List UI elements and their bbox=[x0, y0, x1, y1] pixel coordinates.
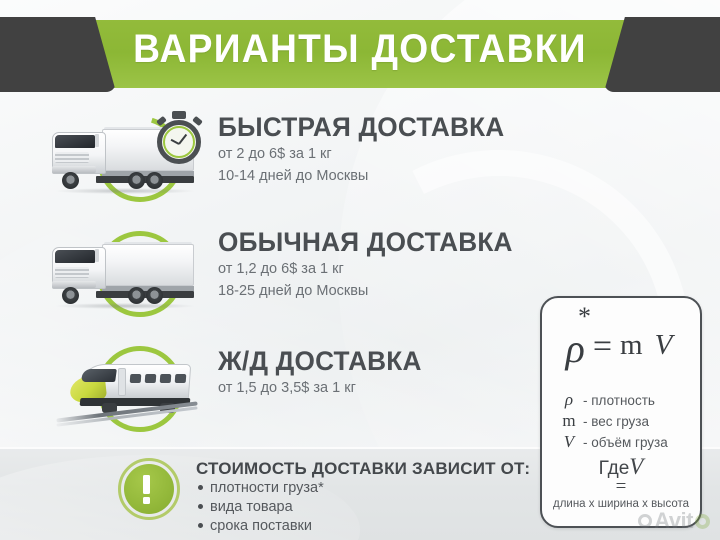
list-item: вида товара bbox=[196, 498, 526, 517]
delivery-option-regular: ОБЫЧНАЯ ДОСТАВКА от 1,2 до 6$ за 1 кг 18… bbox=[0, 219, 560, 329]
density-formula-card: * ρ = m V ρ - плотность m - вес груза V … bbox=[540, 296, 702, 528]
delivery-option-rail: Ж/Д ДОСТАВКА от 1,5 до 3,5$ за 1 кг bbox=[0, 334, 560, 444]
delivery-option-rail-text: Ж/Д ДОСТАВКА от 1,5 до 3,5$ за 1 кг bbox=[218, 346, 548, 398]
option-price: от 2 до 6$ за 1 кг bbox=[218, 144, 548, 164]
option-price: от 1,5 до 3,5$ за 1 кг bbox=[218, 378, 548, 398]
volume-symbol: V bbox=[629, 454, 643, 479]
equals-symbol: = bbox=[593, 330, 612, 364]
cost-factors-title: СТОИМОСТЬ ДОСТАВКИ ЗАВИСИТ ОТ: bbox=[196, 459, 526, 479]
option-title: ОБЫЧНАЯ ДОСТАВКА bbox=[218, 227, 538, 257]
volume-equals: = bbox=[542, 480, 700, 494]
list-item-label: срока поставки bbox=[210, 518, 312, 534]
option-duration: 18-25 дней до Москвы bbox=[218, 281, 548, 301]
list-item-label: вида товара bbox=[210, 499, 293, 515]
exclamation-icon bbox=[118, 458, 180, 520]
option-title: БЫСТРАЯ ДОСТАВКА bbox=[218, 112, 538, 142]
header-banner: ВАРИАНТЫ ДОСТАВКИ bbox=[0, 17, 720, 92]
page-title: ВАРИАНТЫ ДОСТАВКИ bbox=[25, 27, 695, 72]
option-price: от 1,2 до 6$ за 1 кг bbox=[218, 259, 548, 279]
volume-definition: ГдеV = длина х ширина х высота bbox=[542, 456, 700, 512]
truck-icon-container bbox=[42, 219, 207, 329]
stopwatch-icon bbox=[154, 110, 204, 164]
option-title: Ж/Д ДОСТАВКА bbox=[218, 346, 538, 376]
train-icon bbox=[56, 358, 198, 424]
bullet-icon bbox=[198, 485, 203, 490]
volume-formula-text: длина х ширина х высота bbox=[542, 496, 700, 512]
list-item-label: плотности груза* bbox=[210, 480, 324, 496]
rho-symbol: ρ bbox=[566, 329, 585, 369]
legend-symbol: m bbox=[558, 411, 580, 431]
legend-row: V - объём груза bbox=[558, 432, 698, 453]
legend-row: ρ - плотность bbox=[558, 390, 698, 411]
legend-row: m - вес груза bbox=[558, 411, 698, 432]
truck-with-stopwatch-icon bbox=[42, 104, 207, 214]
cost-factors-block: СТОИМОСТЬ ДОСТАВКИ ЗАВИСИТ ОТ: плотности… bbox=[196, 459, 526, 536]
fraction-denominator: V bbox=[651, 327, 677, 361]
legend-symbol: V bbox=[558, 432, 580, 452]
option-duration: 10-14 дней до Москвы bbox=[218, 166, 548, 186]
delivery-option-fast-text: БЫСТРАЯ ДОСТАВКА от 2 до 6$ за 1 кг 10-1… bbox=[218, 112, 548, 186]
legend-text: - вес груза bbox=[583, 412, 649, 432]
delivery-option-fast: БЫСТРАЯ ДОСТАВКА от 2 до 6$ за 1 кг 10-1… bbox=[0, 104, 560, 214]
legend-text: - объём груза bbox=[583, 433, 668, 453]
delivery-options-infographic: ВАРИАНТЫ ДОСТАВКИ bbox=[0, 0, 720, 540]
train-icon-container bbox=[42, 334, 207, 444]
bullet-icon bbox=[198, 523, 203, 528]
legend-text: - плотность bbox=[583, 391, 655, 411]
legend-symbol: ρ bbox=[558, 390, 580, 410]
formula-legend: ρ - плотность m - вес груза V - объём гр… bbox=[558, 390, 698, 453]
density-formula: ρ = m V bbox=[542, 306, 700, 384]
truck-icon bbox=[50, 241, 200, 311]
bullet-icon bbox=[198, 504, 203, 509]
mass-over-volume-fraction: m V bbox=[616, 331, 676, 360]
list-item: плотности груза* bbox=[196, 479, 526, 498]
fraction-numerator: m bbox=[616, 329, 647, 363]
list-item: срока поставки bbox=[196, 517, 526, 536]
delivery-option-regular-text: ОБЫЧНАЯ ДОСТАВКА от 1,2 до 6$ за 1 кг 18… bbox=[218, 227, 548, 301]
